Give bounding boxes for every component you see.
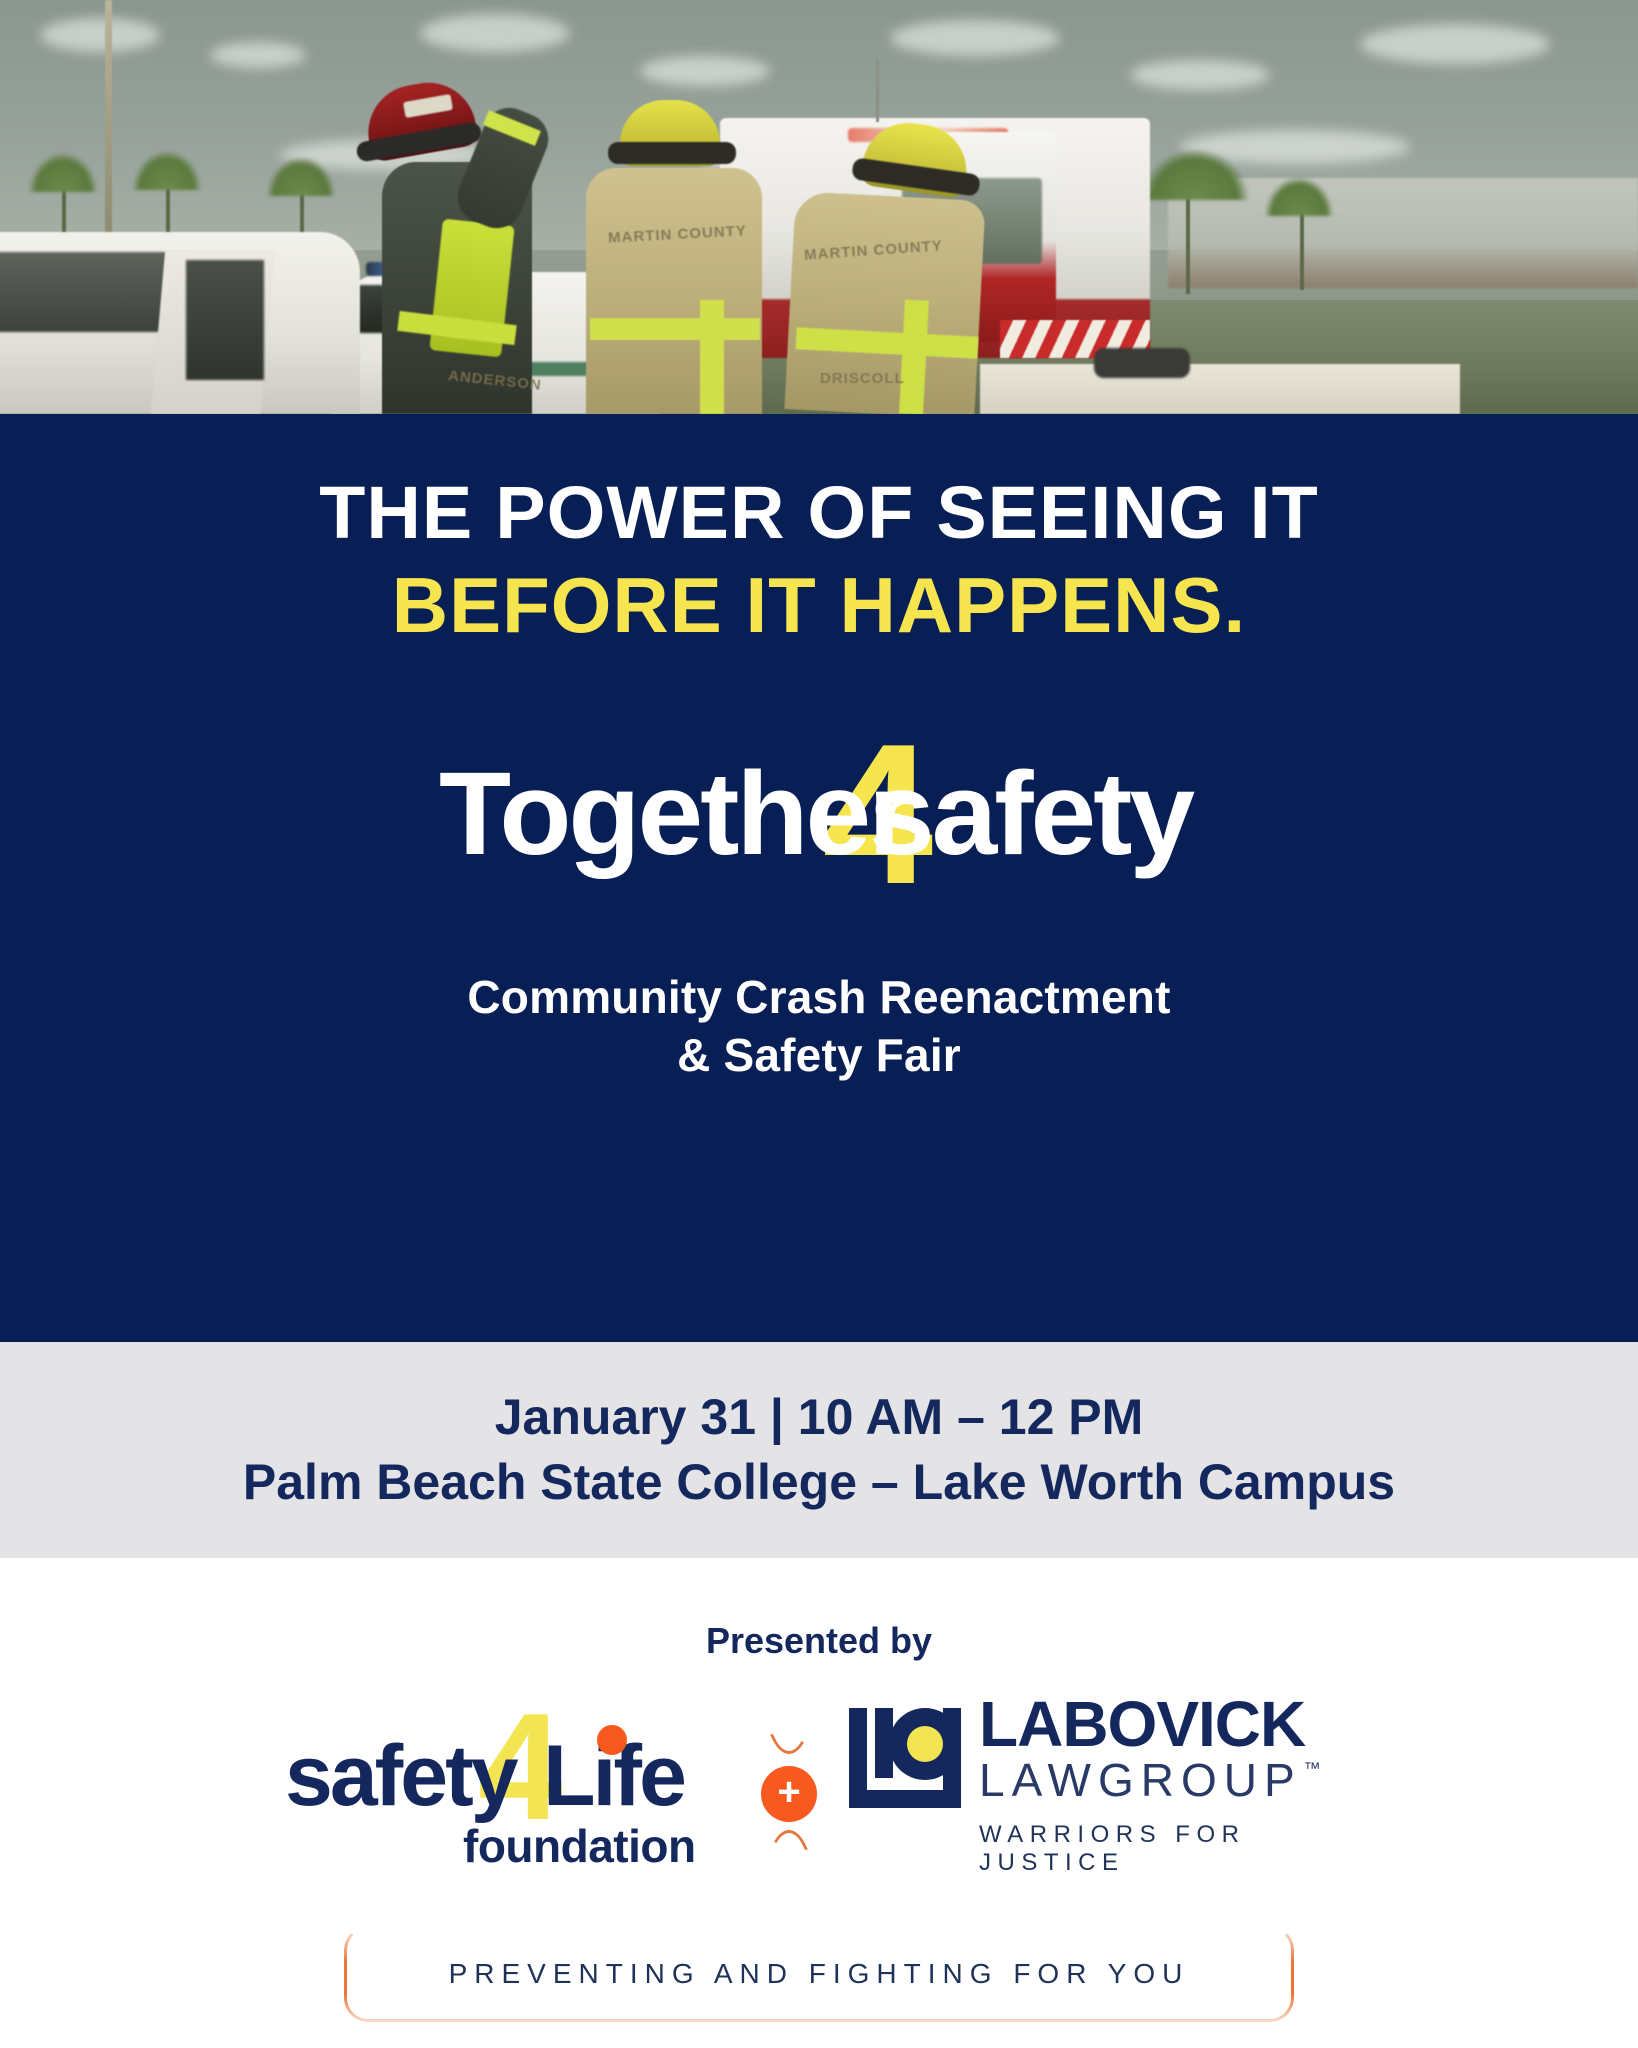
plus-connector: + bbox=[733, 1682, 845, 1902]
palm-tree bbox=[28, 152, 98, 192]
presented-by-label: Presented by bbox=[0, 1620, 1638, 1662]
labovick-tagline: WARRIORS FOR JUSTICE bbox=[979, 1821, 1375, 1877]
connector-curve-top-icon bbox=[763, 1690, 815, 1754]
orange-dot-icon bbox=[597, 1725, 627, 1755]
connector-curve-bottom-icon bbox=[763, 1830, 815, 1894]
headline-line-1: THE POWER OF SEEING IT bbox=[0, 472, 1638, 553]
subtitle-line-2: & Safety Fair bbox=[0, 1027, 1638, 1085]
firefighter-reflective-stripe bbox=[700, 300, 724, 414]
wrecked-car-opening bbox=[186, 260, 264, 380]
sponsor-logos-row: 4 safety Life foundation + LABOVICK LAWG… bbox=[0, 1692, 1638, 1892]
cloud-shape bbox=[1360, 24, 1550, 64]
together4safety-word-together: Together bbox=[439, 755, 911, 873]
labovick-mark-icon bbox=[845, 1708, 965, 1808]
event-flyer: ANDERSON MARTIN COUNTY MARTIN COUNTY DRI… bbox=[0, 0, 1638, 2048]
cloud-shape bbox=[420, 14, 570, 52]
cloud-shape bbox=[640, 56, 770, 86]
firefighter-name-label: DRISCOLL bbox=[820, 370, 905, 387]
crash-reenactment-photo: ANDERSON MARTIN COUNTY MARTIN COUNTY DRI… bbox=[0, 0, 1638, 414]
firefighter-reflective-stripe bbox=[590, 318, 760, 340]
cloud-shape bbox=[40, 18, 160, 52]
palm-tree bbox=[1140, 148, 1250, 200]
together4safety-word-safety: safety bbox=[869, 755, 1192, 873]
together4safety-logo: 4 Together safety bbox=[0, 737, 1638, 917]
safety4life-descriptor: foundation bbox=[463, 1823, 696, 1869]
palm-tree bbox=[266, 156, 336, 196]
safety4life-foundation-logo[interactable]: 4 safety Life foundation bbox=[263, 1697, 733, 1887]
plus-glyph: + bbox=[777, 1772, 800, 1812]
event-location: Palm Beach State College – Lake Worth Ca… bbox=[243, 1452, 1395, 1513]
palm-tree bbox=[1264, 176, 1334, 216]
trademark-symbol: ™ bbox=[1304, 1759, 1321, 1779]
debris-pile bbox=[1094, 348, 1190, 378]
tagline-text: PREVENTING AND FIGHTING FOR YOU bbox=[449, 1958, 1190, 1990]
safety4life-word-safety: safety bbox=[285, 1733, 516, 1819]
subtitle-line-1: Community Crash Reenactment bbox=[0, 969, 1638, 1027]
headline-line-2: BEFORE IT HAPPENS. bbox=[0, 561, 1638, 651]
labovick-wordmark: LABOVICK bbox=[979, 1694, 1375, 1755]
event-subtitle: Community Crash Reenactment & Safety Fai… bbox=[0, 969, 1638, 1084]
palm-tree bbox=[132, 150, 202, 190]
ground-tarp bbox=[980, 364, 1460, 414]
tagline-box: PREVENTING AND FIGHTING FOR YOU bbox=[344, 1926, 1294, 2022]
headline-band: THE POWER OF SEEING IT BEFORE IT HAPPENS… bbox=[0, 414, 1638, 1342]
plus-circle-icon: + bbox=[761, 1766, 817, 1822]
firefighter-tan-gear-left bbox=[586, 168, 762, 414]
fire-engine-antenna bbox=[876, 60, 879, 122]
labovick-lawgroup-text: LAWGROUP bbox=[979, 1755, 1302, 1806]
headline-group: THE POWER OF SEEING IT BEFORE IT HAPPENS… bbox=[0, 414, 1638, 651]
event-date-time: January 31 | 10 AM – 12 PM bbox=[495, 1387, 1144, 1448]
cloud-shape bbox=[1130, 60, 1270, 90]
light-pole bbox=[105, 0, 112, 235]
cloud-shape bbox=[210, 42, 306, 68]
labovick-lawgroup-logo[interactable]: LABOVICK LAWGROUP ™ WARRIORS FOR JUSTICE bbox=[845, 1694, 1375, 1890]
event-details-band: January 31 | 10 AM – 12 PM Palm Beach St… bbox=[0, 1342, 1638, 1558]
firefighter-helmet-brim bbox=[608, 142, 736, 164]
cloud-shape bbox=[890, 20, 1060, 56]
